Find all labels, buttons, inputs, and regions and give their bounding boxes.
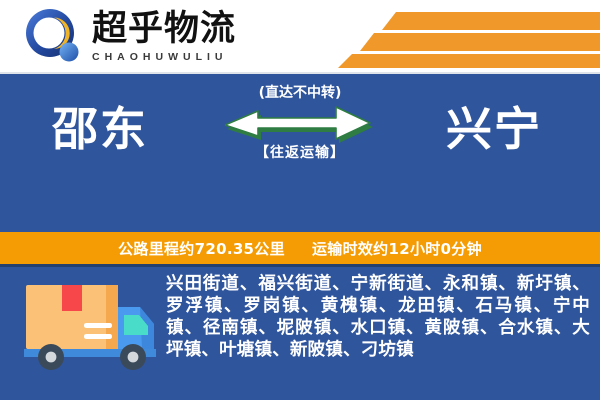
route-info-bar: 公路里程约720.35公里 运输时效约12小时0分钟 [0,232,600,264]
distance-text: 公路里程约720.35公里 [118,240,285,258]
destination-city: 兴宁 [446,106,542,152]
brand-text: 超乎物流 CHAOHUWULIU [92,11,236,63]
route-arrow-block: (直达不中转) 【往返运输】 [200,86,400,160]
brand-name-cn: 超乎物流 [92,11,236,48]
brand-logo: 超乎物流 CHAOHUWULIU [24,8,236,66]
banner-body: 邵东 (直达不中转) 【往返运输】 兴宁 公路里程约720.35公里 运输时效约… [0,72,600,400]
double-headed-arrow-icon [225,104,375,144]
route-section: 邵东 (直达不中转) 【往返运输】 兴宁 [0,72,600,232]
banner-header: 超乎物流 CHAOHUWULIU [0,0,600,72]
info-bar-content: 公路里程约720.35公里 运输时效约12小时0分钟 [118,238,482,259]
logistics-route-banner: 超乎物流 CHAOHUWULIU 邵东 (直达不中转) [0,0,600,400]
route-note-bottom: 【往返运输】 [200,146,400,160]
coverage-section: 兴田街道、福兴街道、宁新街道、永和镇、新圩镇、罗浮镇、罗岗镇、黄槐镇、龙田镇、石… [0,267,600,400]
coverage-area-list: 兴田街道、福兴街道、宁新街道、永和镇、新圩镇、罗浮镇、罗岗镇、黄槐镇、龙田镇、石… [166,273,590,361]
speed-stripes-decoration [330,4,600,68]
duration-text: 运输时效约12小时0分钟 [312,240,482,258]
origin-city: 邵东 [52,106,148,152]
delivery-truck-icon [18,279,160,379]
circle-crescent-logo-icon [24,8,82,66]
route-note-top: (直达不中转) [200,86,400,100]
brand-name-en: CHAOHUWULIU [92,51,236,63]
